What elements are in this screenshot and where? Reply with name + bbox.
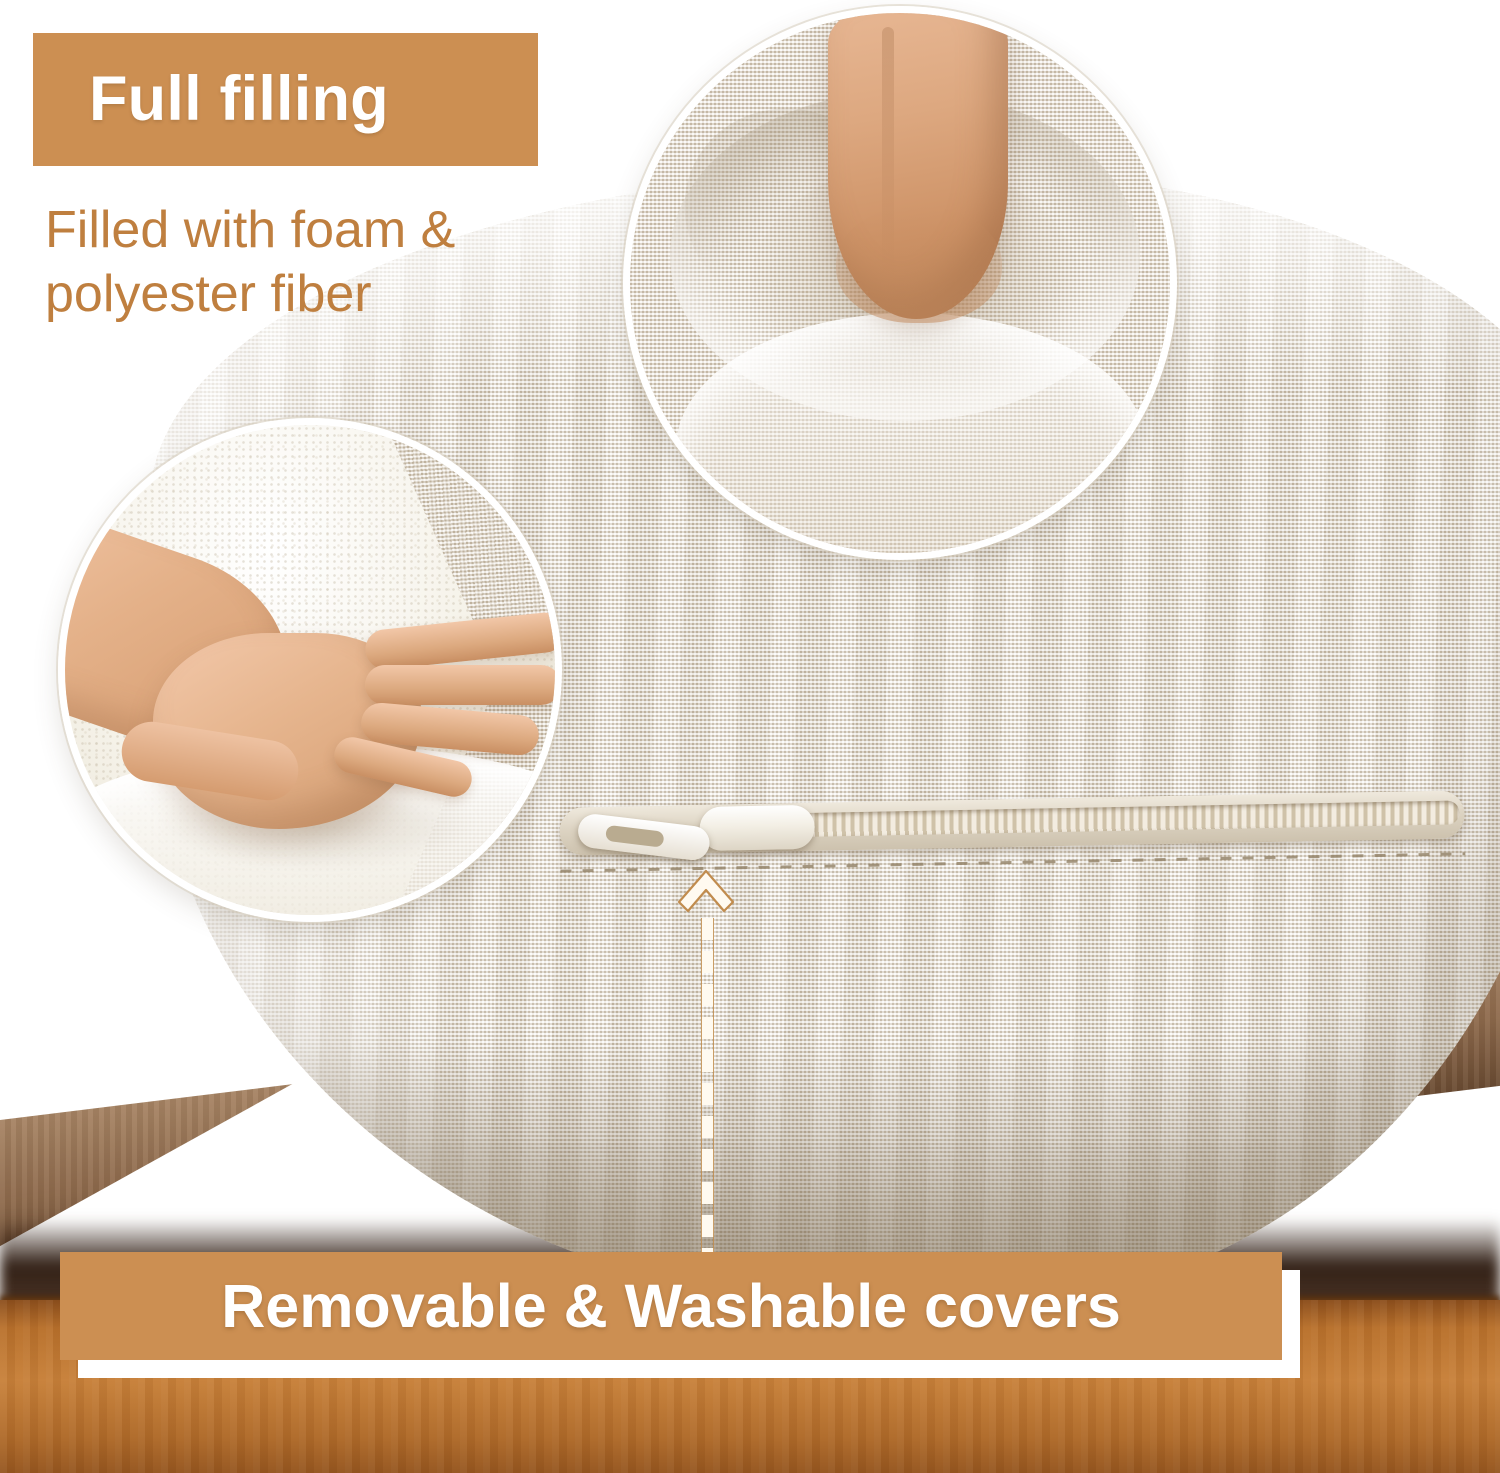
zipper-callout [676, 868, 736, 1268]
inset-fist-press [623, 6, 1177, 560]
feature-subtitle-line-2: polyester fiber [45, 262, 645, 326]
arrow-up-icon [676, 868, 736, 920]
inset-finger-middle [365, 665, 561, 705]
bottom-banner-text: Removable & Washable covers [221, 1271, 1121, 1341]
product-infographic: Full filling Filled with foam & polyeste… [0, 0, 1500, 1473]
callout-dashed-line [701, 918, 714, 1268]
bottom-banner: Removable & Washable covers [60, 1252, 1282, 1360]
inset-hand-foam [58, 418, 562, 922]
feature-title-text: Full filling [33, 68, 389, 131]
feature-subtitle-line-1: Filled with foam & [45, 198, 645, 262]
zipper-slider-body [699, 805, 815, 851]
feature-title-box: Full filling [33, 33, 538, 166]
feature-subtitle: Filled with foam & polyester fiber [45, 198, 645, 327]
inset-fist-knuckles [836, 205, 1002, 323]
